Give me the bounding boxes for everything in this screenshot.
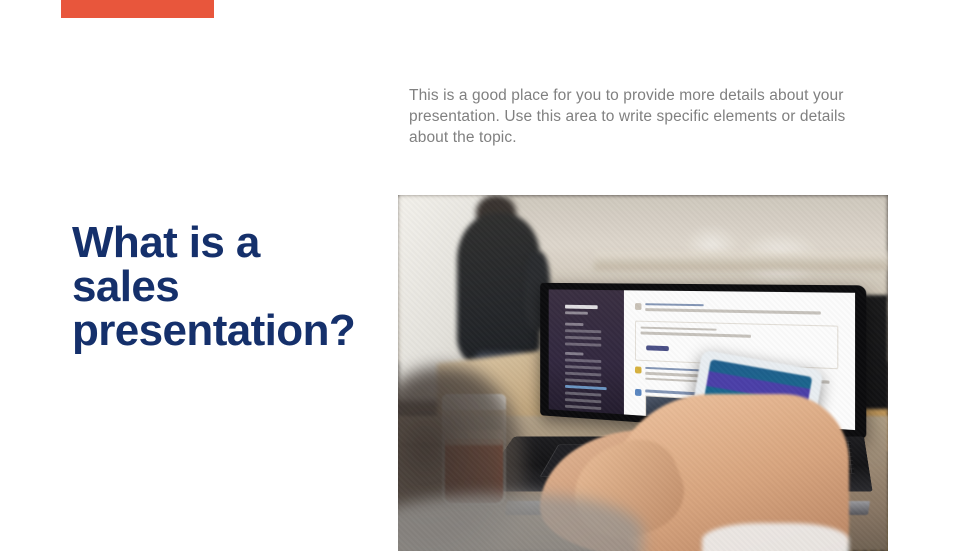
card-line xyxy=(641,326,717,331)
message-author xyxy=(646,367,704,372)
message-line xyxy=(646,308,822,314)
sidebar-channel-item xyxy=(565,405,602,410)
accent-bar xyxy=(61,0,214,18)
shirt-sleeve xyxy=(702,523,849,551)
sidebar-channel-item xyxy=(565,378,602,383)
sidebar-channel-item xyxy=(565,358,602,362)
sidebar-channel-item xyxy=(565,329,602,333)
message-author xyxy=(646,303,704,306)
card-line xyxy=(641,332,752,338)
sidebar-channel-item xyxy=(565,398,602,403)
page-title-line-2: sales xyxy=(72,265,372,309)
avatar xyxy=(635,389,642,396)
page-title-line-1: What is a xyxy=(72,221,372,265)
chat-app-sidebar xyxy=(549,290,624,415)
sidebar-channel-item xyxy=(565,365,602,370)
sidebar-channel-item xyxy=(565,371,602,376)
sidebar-channel-item xyxy=(565,342,602,346)
sidebar-channel-item xyxy=(565,391,602,396)
workspace-name xyxy=(565,304,598,308)
avatar xyxy=(635,366,642,373)
avatar xyxy=(635,303,642,310)
workspace-user xyxy=(565,311,588,314)
chat-message xyxy=(635,303,838,318)
sidebar-channel-item xyxy=(565,336,602,340)
sidebar-group-label xyxy=(565,322,584,325)
card-button xyxy=(647,345,670,351)
photo-scene xyxy=(398,195,888,551)
page-title: What is a sales presentation? xyxy=(72,221,372,353)
page-title-line-3: presentation? xyxy=(72,309,372,353)
sidebar-channel-item-active xyxy=(565,385,606,390)
body-paragraph: This is a good place for you to provide … xyxy=(409,85,851,148)
cafe-shelf-upper xyxy=(594,252,888,270)
slide-photo xyxy=(398,195,888,551)
presentation-slide: This is a good place for you to provide … xyxy=(0,0,980,551)
sidebar-group-label xyxy=(565,352,584,356)
